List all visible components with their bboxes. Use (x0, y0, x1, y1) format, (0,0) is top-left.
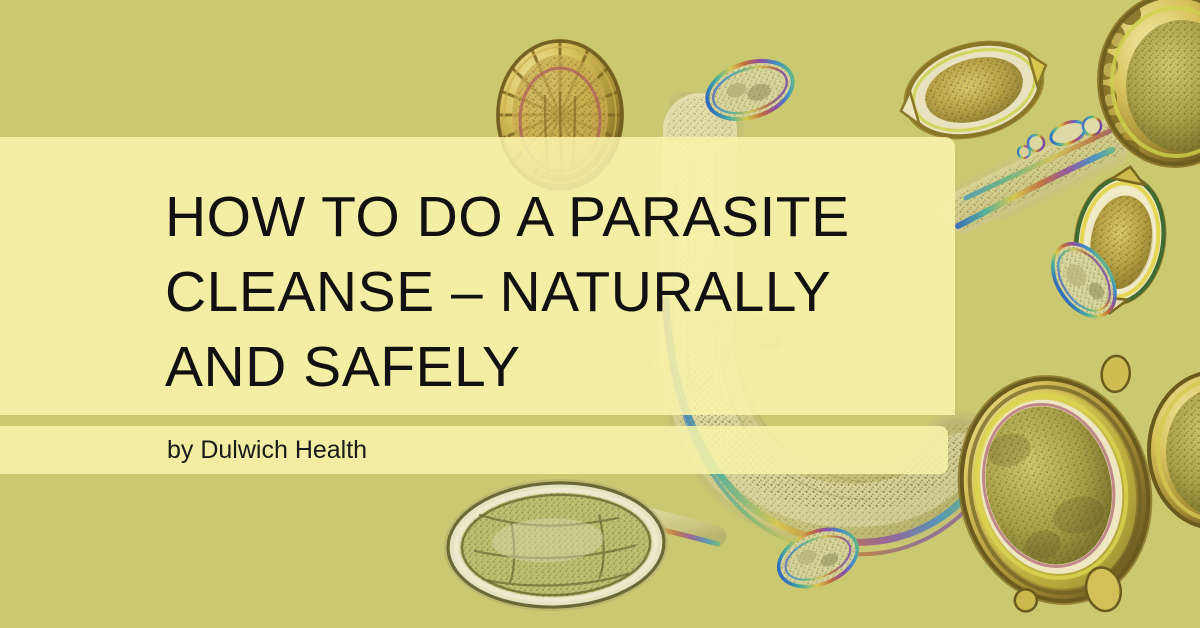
article-banner: HOW TO DO A PARASITE CLEANSE – NATURALLY… (0, 0, 1200, 628)
page-title: HOW TO DO A PARASITE CLEANSE – NATURALLY… (165, 180, 850, 405)
byline-panel: by Dulwich Health (0, 426, 948, 474)
byline-author: by Dulwich Health (167, 435, 367, 465)
title-panel: HOW TO DO A PARASITE CLEANSE – NATURALLY… (0, 137, 955, 415)
